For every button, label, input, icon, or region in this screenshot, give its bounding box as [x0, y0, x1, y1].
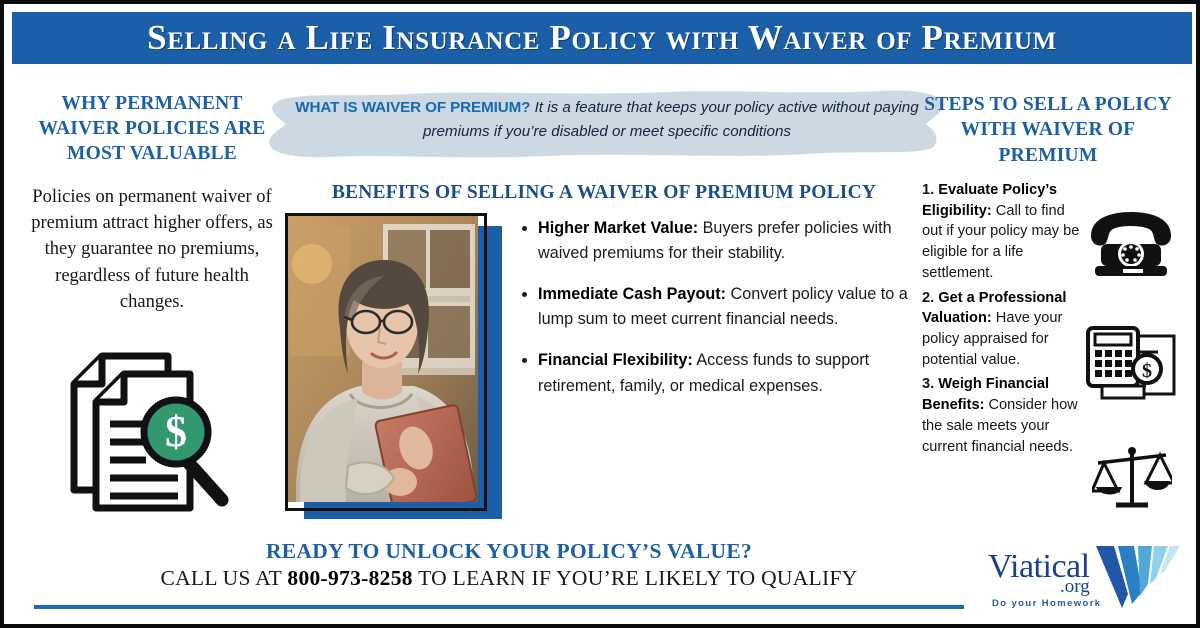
logo-tagline: Do your Homework — [992, 598, 1102, 609]
cta-subline: CALL US AT 800-973-8258 TO LEARN IF YOU’… — [134, 566, 884, 591]
left-column-body: Policies on permanent waiver of premium … — [28, 184, 276, 315]
list-item: Higher Market Value: Buyers prefer polic… — [538, 216, 908, 266]
phone-number[interactable]: 800-973-8258 — [287, 566, 412, 590]
header-banner: Selling a Life Insurance Policy with Wai… — [12, 12, 1192, 64]
viatical-logo[interactable]: Viatical .org Do your Homework — [982, 544, 1182, 614]
right-column: STEPS TO SELL A POLICY WITH WAIVER OF PR… — [912, 92, 1184, 168]
logo-tld: .org — [1060, 576, 1090, 598]
benefit-title: Immediate Cash Payout: — [538, 285, 726, 303]
svg-text:$: $ — [165, 407, 187, 456]
cta-headline: READY TO UNLOCK YOUR POLICY’S VALUE? — [154, 539, 864, 564]
callout-brush-banner: WHAT IS WAIVER OF PREMIUM? It is a featu… — [266, 88, 946, 160]
step-number: 2. — [922, 290, 934, 306]
footer-divider — [34, 605, 964, 609]
callout-text: WHAT IS WAIVER OF PREMIUM? It is a featu… — [292, 96, 922, 144]
senior-woman-with-tablet-photo — [285, 213, 487, 511]
logo-v-mark-icon — [1092, 544, 1180, 610]
step-number: 1. — [922, 182, 934, 198]
left-column: WHY PERMANENT WAIVER POLICIES ARE MOST V… — [28, 92, 276, 315]
infographic-poster: Selling a Life Insurance Policy with Wai… — [0, 0, 1200, 628]
svg-text:$: $ — [1142, 360, 1152, 382]
step-item: 3. Weigh Financial Benefits: Consider ho… — [922, 374, 1087, 457]
rotary-telephone-icon — [1083, 210, 1179, 280]
balance-scales-icon — [1092, 441, 1172, 515]
right-column-heading: STEPS TO SELL A POLICY WITH WAIVER OF PR… — [912, 92, 1184, 168]
callout-lead-label: WHAT IS WAIVER OF PREMIUM? — [295, 99, 530, 116]
cta-post-text: TO LEARN IF YOU’RE LIKELY TO QUALIFY — [413, 566, 858, 590]
left-column-heading: WHY PERMANENT WAIVER POLICIES ARE MOST V… — [28, 92, 276, 167]
benefits-heading: BENEFITS OF SELLING A WAIVER OF PREMIUM … — [304, 182, 904, 204]
page-title: Selling a Life Insurance Policy with Wai… — [147, 18, 1057, 58]
calculator-dollar-icon: $ — [1084, 324, 1180, 402]
cta-pre-text: CALL US AT — [160, 566, 287, 590]
documents-with-dollar-magnifier-icon: $ — [62, 340, 262, 520]
step-item: 1. Evaluate Policy’s Eligibility: Call t… — [922, 180, 1087, 284]
list-item: Immediate Cash Payout: Convert policy va… — [538, 282, 908, 332]
step-number: 3. — [922, 376, 934, 392]
benefit-title: Higher Market Value: — [538, 219, 698, 237]
list-item: Financial Flexibility: Access funds to s… — [538, 348, 908, 398]
benefit-title: Financial Flexibility: — [538, 351, 693, 369]
steps-list: 1. Evaluate Policy’s Eligibility: Call t… — [922, 180, 1087, 457]
step-item: 2. Get a Professional Valuation: Have yo… — [922, 288, 1087, 371]
benefits-list: Higher Market Value: Buyers prefer polic… — [516, 216, 908, 415]
